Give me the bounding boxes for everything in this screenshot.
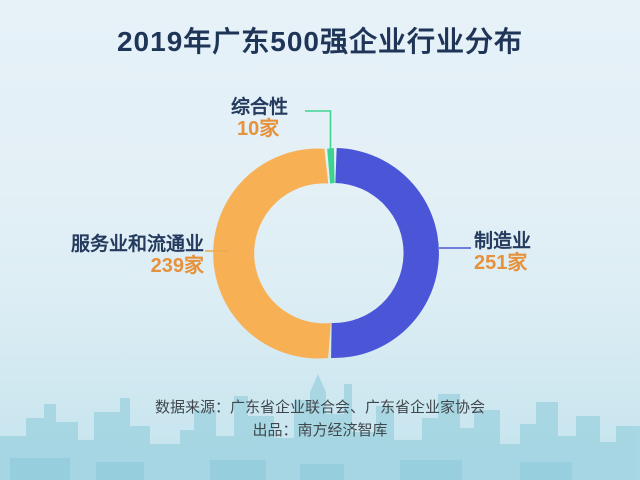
callout-manufacturing: 制造业 251家: [474, 231, 531, 275]
callout-comprehensive-name: 综合性: [231, 97, 288, 118]
footer-producer: 出品：南方经济智库: [0, 419, 640, 442]
callout-manufacturing-value: 251家: [474, 252, 531, 274]
footer-source: 数据来源：广东省企业联合会、广东省企业家协会: [0, 396, 640, 419]
donut-slice-service[interactable]: [213, 149, 331, 359]
callout-service: 服务业和流通业 239家: [34, 234, 204, 278]
callout-manufacturing-name: 制造业: [474, 231, 531, 252]
infographic-canvas: 2019年广东500强企业行业分布 综合性 10家: [0, 0, 640, 480]
footer-credits: 数据来源：广东省企业联合会、广东省企业家协会 出品：南方经济智库: [0, 396, 640, 443]
donut-slice-comprehensive[interactable]: [327, 148, 334, 184]
callout-comprehensive-value: 10家: [237, 118, 288, 140]
leader-line-comprehensive: [305, 111, 331, 149]
donut-chart: 综合性 10家 服务业和流通业 239家 制造业 251家: [0, 0, 640, 430]
callout-service-value: 239家: [34, 255, 204, 277]
callout-service-name: 服务业和流通业: [34, 234, 204, 255]
donut-slice-manufacturing[interactable]: [331, 148, 439, 358]
callout-comprehensive: 综合性 10家: [231, 97, 288, 141]
